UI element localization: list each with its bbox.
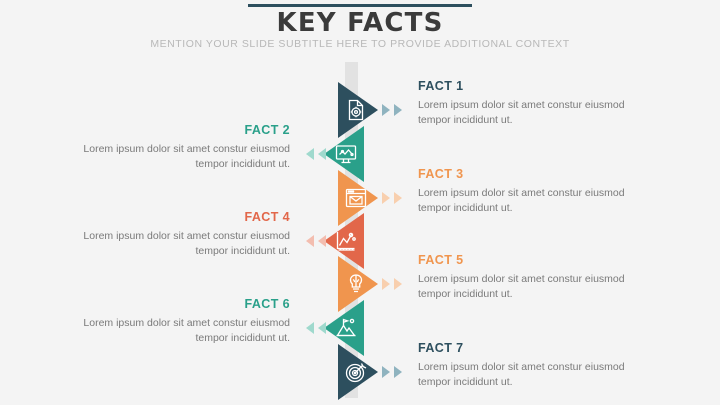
fact-chevrons-6 bbox=[304, 322, 330, 334]
page-subtitle: MENTION YOUR SLIDE SUBTITLE HERE TO PROV… bbox=[0, 38, 720, 50]
fact-heading-3: FACT 3 bbox=[418, 168, 628, 182]
line-graph-icon bbox=[334, 229, 358, 253]
title-rule bbox=[248, 4, 472, 7]
fact-text-block-6: FACT 6Lorem ipsum dolor sit amet constur… bbox=[78, 298, 290, 346]
fact-body-4: Lorem ipsum dolor sit amet constur eiusm… bbox=[78, 229, 290, 259]
document-target-icon bbox=[344, 98, 368, 122]
fact-chevrons-3 bbox=[382, 192, 408, 204]
fact-text-block-7: FACT 7Lorem ipsum dolor sit amet constur… bbox=[418, 342, 628, 390]
fact-chevrons-2 bbox=[304, 148, 330, 160]
fact-body-6: Lorem ipsum dolor sit amet constur eiusm… bbox=[78, 316, 290, 346]
fact-body-5: Lorem ipsum dolor sit amet constur eiusm… bbox=[418, 272, 628, 302]
fact-heading-1: FACT 1 bbox=[418, 80, 628, 94]
fact-heading-6: FACT 6 bbox=[78, 298, 290, 312]
fact-heading-2: FACT 2 bbox=[78, 124, 290, 138]
fact-body-3: Lorem ipsum dolor sit amet constur eiusm… bbox=[418, 186, 628, 216]
fact-text-block-2: FACT 2Lorem ipsum dolor sit amet constur… bbox=[78, 124, 290, 172]
fact-chevrons-5 bbox=[382, 278, 408, 290]
fact-heading-7: FACT 7 bbox=[418, 342, 628, 356]
fact-text-block-4: FACT 4Lorem ipsum dolor sit amet constur… bbox=[78, 211, 290, 259]
fact-chevrons-7 bbox=[382, 366, 408, 378]
fact-heading-5: FACT 5 bbox=[418, 254, 628, 268]
fact-text-block-3: FACT 3Lorem ipsum dolor sit amet constur… bbox=[418, 168, 628, 216]
email-window-icon bbox=[344, 186, 368, 210]
fact-chevrons-1 bbox=[382, 104, 408, 116]
fact-body-2: Lorem ipsum dolor sit amet constur eiusm… bbox=[78, 142, 290, 172]
fact-text-block-5: FACT 5Lorem ipsum dolor sit amet constur… bbox=[418, 254, 628, 302]
timeline-row-fact-7: FACT 7Lorem ipsum dolor sit amet constur… bbox=[0, 344, 720, 400]
fact-body-1: Lorem ipsum dolor sit amet constur eiusm… bbox=[418, 98, 628, 128]
fact-text-block-1: FACT 1Lorem ipsum dolor sit amet constur… bbox=[418, 80, 628, 128]
page-title: KEY FACTS bbox=[0, 8, 720, 38]
monitor-chart-icon bbox=[334, 142, 358, 166]
brain-bulb-icon bbox=[344, 272, 368, 296]
target-dartboard-icon bbox=[344, 360, 368, 384]
mountain-flag-icon bbox=[334, 316, 358, 340]
fact-body-7: Lorem ipsum dolor sit amet constur eiusm… bbox=[418, 360, 628, 390]
fact-chevrons-4 bbox=[304, 235, 330, 247]
fact-heading-4: FACT 4 bbox=[78, 211, 290, 225]
slide-canvas: KEY FACTS MENTION YOUR SLIDE SUBTITLE HE… bbox=[0, 0, 720, 405]
